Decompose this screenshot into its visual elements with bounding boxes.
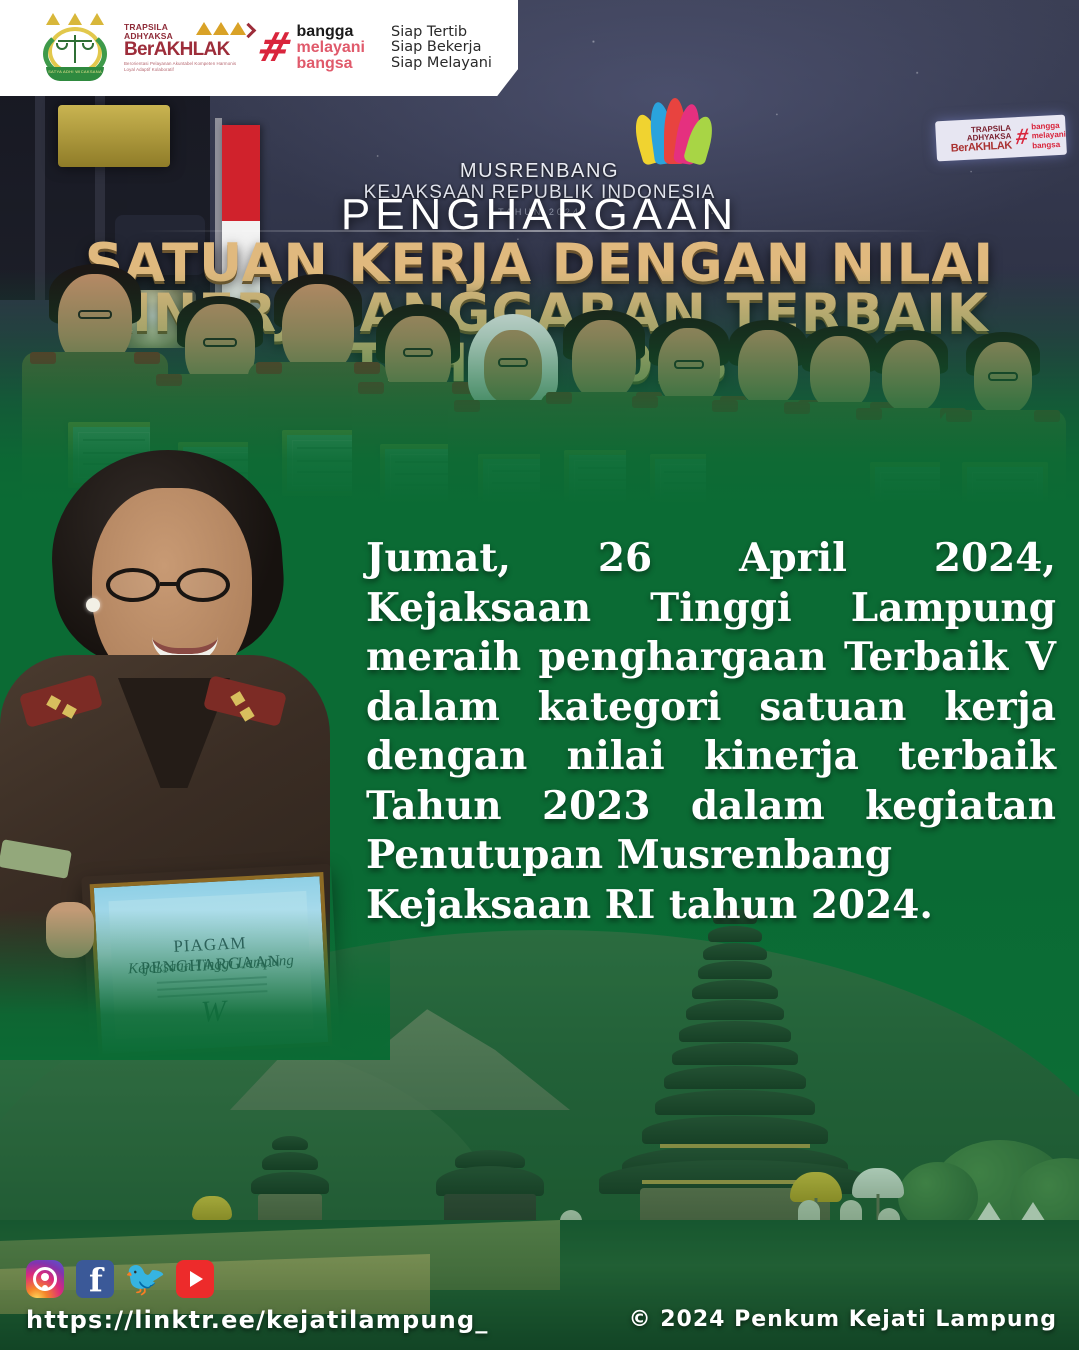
- portrait-earring: [86, 598, 100, 612]
- instagram-icon[interactable]: [26, 1260, 64, 1298]
- caption-body: Jumat, 26 April 2024, Kejaksaan Tinggi L…: [366, 535, 1056, 878]
- berakhlak-tagline: Berorientasi Pelayanan Akuntabel Kompete…: [124, 61, 242, 73]
- social-links: f 🐦: [26, 1260, 214, 1298]
- berakhlak-logo: TRAPSILA ADHYAKSA BerAKHLAK Berorientasi…: [124, 23, 242, 74]
- hashtag-icon: #: [254, 31, 296, 65]
- bangga-melayani-bangsa-logo: # bangga melayani bangsa: [258, 24, 365, 73]
- facebook-icon[interactable]: f: [76, 1260, 114, 1298]
- portrait-fade: [0, 910, 390, 1060]
- bangga-line2: melayani: [297, 40, 365, 56]
- footer-bar: f 🐦 https://linktr.ee/kejatilampung_ © 2…: [0, 1240, 1079, 1350]
- siap-slogan-block: Siap Tertib Siap Bekerja Siap Melayani: [391, 25, 492, 72]
- caption-last-line: Kejaksaan RI tahun 2024.: [366, 881, 1056, 931]
- berakhlak-triangles-icon: [196, 22, 246, 35]
- bangga-line1: bangga: [297, 24, 365, 40]
- copyright-text: © 2024 Penkum Kejati Lampung: [629, 1307, 1057, 1332]
- berakhlak-wordmark: BerAKHLAK: [124, 40, 242, 59]
- emblem-ribbon-text: SATYA ADHI WICAKSANA: [46, 69, 104, 74]
- youtube-icon[interactable]: [176, 1260, 214, 1298]
- glasses-icon: [106, 568, 246, 602]
- siap-line-1: Siap Tertib: [391, 25, 492, 41]
- siap-line-2: Siap Bekerja: [391, 40, 492, 56]
- header-bar: SATYA ADHI WICAKSANA TRAPSILA ADHYAKSA B…: [0, 0, 518, 96]
- bangga-line3: bangsa: [297, 56, 365, 72]
- caption-text: Jumat, 26 April 2024, Kejaksaan Tinggi L…: [366, 534, 1056, 930]
- poster-canvas: MUSRENBANG KEJAKSAAN REPUBLIK INDONESIA …: [0, 0, 1079, 1350]
- emblem-ribbon: SATYA ADHI WICAKSANA: [46, 67, 104, 81]
- kejaksaan-emblem-icon: SATYA ADHI WICAKSANA: [42, 13, 108, 83]
- linktree-url[interactable]: https://linktr.ee/kejatilampung_: [26, 1306, 489, 1334]
- facebook-glyph: f: [89, 1264, 103, 1296]
- siap-line-3: Siap Melayani: [391, 56, 492, 72]
- twitter-bird-glyph: 🐦: [124, 1262, 166, 1296]
- officer-portrait: PIAGAM PENGHARGAAN Kejaksaan Tinggi Lamp…: [0, 440, 390, 1060]
- scales-of-justice-icon: [58, 35, 92, 65]
- twitter-icon[interactable]: 🐦: [126, 1260, 164, 1298]
